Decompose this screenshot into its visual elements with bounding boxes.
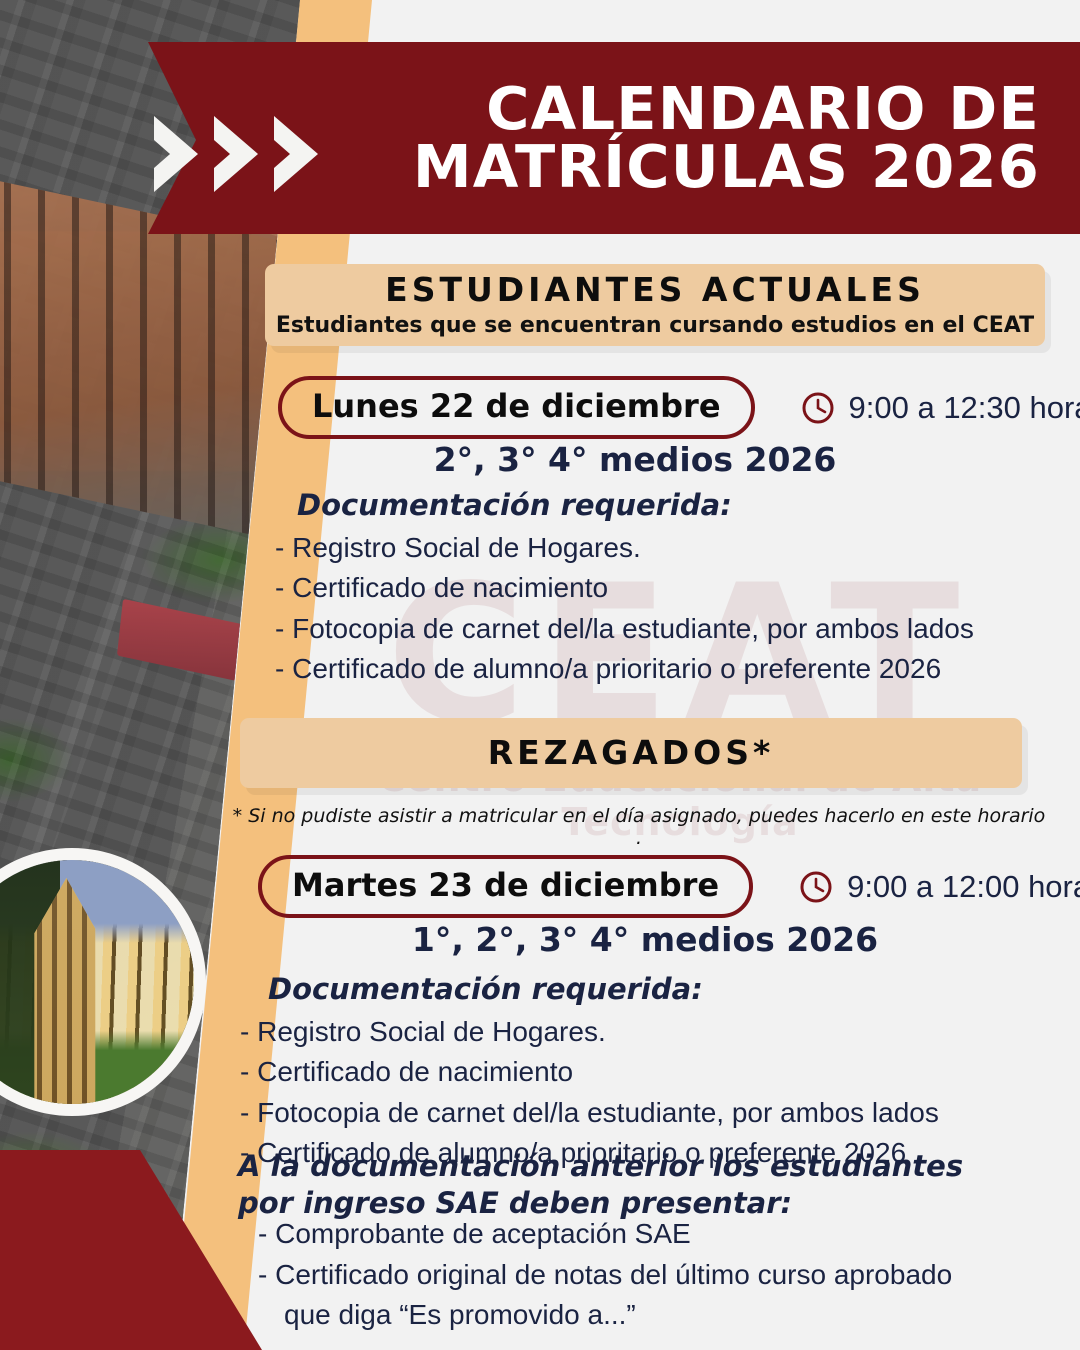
list-item: - Certificado original de notas del últi…	[258, 1255, 952, 1296]
list-item: - Comprobante de aceptación SAE	[258, 1214, 952, 1255]
clock-icon	[801, 391, 835, 425]
band-title: ESTUDIANTES ACTUALES	[385, 272, 925, 308]
list-item: - Registro Social de Hogares.	[275, 528, 974, 568]
poster-canvas: CEAT Centro Educacional de Alta Tecnolog…	[0, 0, 1080, 1350]
time-group: 9:00 a 12:30 horas	[801, 390, 1080, 426]
docs-heading-2: Documentación requerida:	[268, 972, 703, 1006]
grades-label-2: 1°, 2°, 3° 4° medios 2026	[255, 920, 1035, 959]
list-item: que diga “Es promovido a...”	[258, 1295, 952, 1336]
date-pill: Lunes 22 de diciembre	[278, 376, 755, 439]
docs-list-1: - Registro Social de Hogares. - Certific…	[275, 528, 974, 689]
list-item: - Fotocopia de carnet del/la estudiante,…	[240, 1093, 939, 1133]
chapel-building-photo	[0, 848, 206, 1116]
chevron-group	[148, 110, 324, 198]
list-item: - Certificado de alumno/a prioritario o …	[275, 649, 974, 689]
list-item: - Certificado de nacimiento	[275, 568, 974, 608]
section-header-rezagados: REZAGADOS*	[240, 718, 1022, 788]
clock-icon	[799, 870, 833, 904]
sae-heading: A la documentación anterior los estudian…	[238, 1148, 1028, 1222]
list-item: - Certificado de nacimiento	[240, 1052, 939, 1092]
chevron-right-icon	[148, 110, 204, 198]
sae-docs-list: - Comprobante de aceptación SAE - Certif…	[258, 1214, 952, 1336]
date-time-row-2: Martes 23 de diciembre 9:00 a 12:00 hora…	[258, 855, 1080, 918]
date-time-row-1: Lunes 22 de diciembre 9:00 a 12:30 horas	[278, 376, 1080, 439]
chapel-photo-image	[0, 860, 194, 1104]
docs-heading-1: Documentación requerida:	[297, 488, 732, 522]
grades-label-1: 2°, 3° 4° medios 2026	[245, 440, 1025, 479]
list-item: - Fotocopia de carnet del/la estudiante,…	[275, 609, 974, 649]
rezagados-note: * Si no pudiste asistir a matricular en …	[230, 805, 1048, 849]
list-item: - Registro Social de Hogares.	[240, 1012, 939, 1052]
poster-content: ESTUDIANTES ACTUALES Estudiantes que se …	[0, 0, 1080, 1350]
date-pill: Martes 23 de diciembre	[258, 855, 753, 918]
time-label: 9:00 a 12:30 horas	[849, 390, 1080, 426]
time-group: 9:00 a 12:00 horas	[799, 869, 1080, 905]
chevron-right-icon	[268, 110, 324, 198]
section-header-estudiantes-actuales: ESTUDIANTES ACTUALES Estudiantes que se …	[265, 264, 1045, 346]
band-subtitle: Estudiantes que se encuentran cursando e…	[276, 314, 1034, 338]
chevron-right-icon	[208, 110, 264, 198]
time-label: 9:00 a 12:00 horas	[847, 869, 1080, 905]
band-title: REZAGADOS*	[488, 735, 775, 771]
